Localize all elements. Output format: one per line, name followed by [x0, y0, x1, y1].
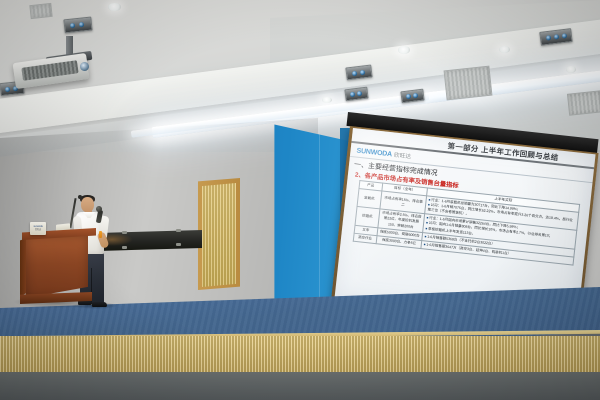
panel-bracket — [176, 243, 181, 246]
table-cell-product: 挖掘机 — [355, 207, 379, 228]
air-vent — [444, 66, 493, 101]
logo-chinese-name: 欣旺达 — [393, 151, 411, 161]
podium-plaque: sunwoda 欣旺达 — [30, 222, 46, 235]
podium-microphone-head-icon — [78, 195, 82, 199]
microphone-head-icon — [96, 206, 102, 212]
air-vent — [29, 3, 52, 19]
downlight-icon — [566, 66, 576, 73]
table-cell-product: 高空作业 — [353, 233, 376, 243]
floor-foreground — [0, 372, 600, 400]
recessed-spotlight-icon — [63, 17, 92, 34]
conference-room-photo: 第一部分 上半年工作回顾与总结 SUNWODA 欣旺达 一、主要经营指标完成情况… — [0, 0, 600, 400]
downlight-icon — [398, 46, 410, 54]
panel-bracket — [176, 229, 181, 232]
projection-screen-assembly: 第一部分 上半年工作回顾与总结 SUNWODA 欣旺达 一、主要经营指标完成情况… — [348, 112, 600, 312]
panel-bracket — [122, 231, 127, 234]
table-cell-product: 装载机 — [357, 189, 381, 210]
downlight-icon — [322, 97, 332, 103]
door[interactable] — [202, 183, 236, 287]
panel-bracket — [122, 246, 127, 249]
plaque-line-2: 欣旺达 — [35, 229, 41, 231]
speaker-badge — [99, 231, 102, 238]
downlight-icon — [499, 46, 510, 53]
speaker-shoe — [92, 302, 107, 307]
slide-data-table: 产品 目标（全年） 上半年实际 装载机市场占有率15%、排名第二行业：1-6月装… — [353, 180, 580, 265]
downlight-icon — [108, 3, 121, 11]
